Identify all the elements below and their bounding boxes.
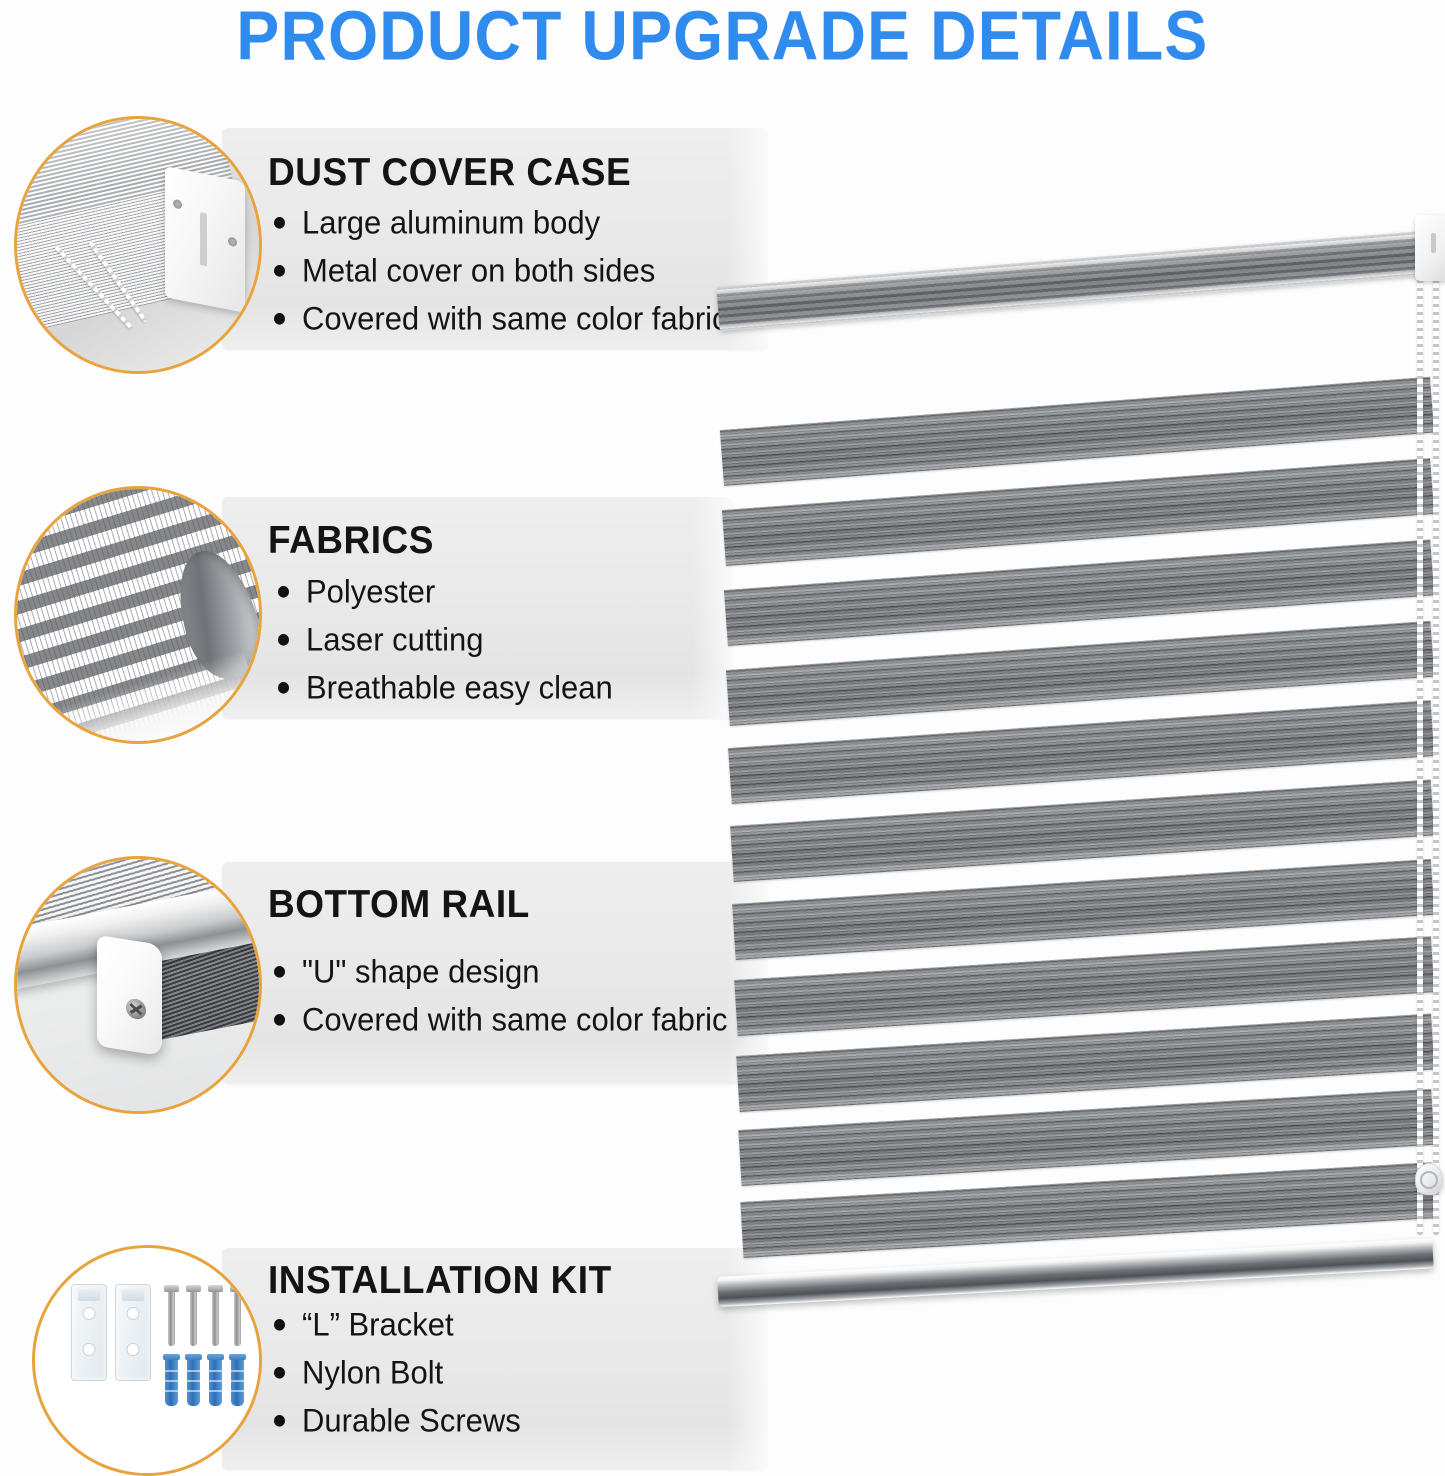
bullet-text: Durable Screws <box>302 1402 521 1439</box>
list-item: "U" shape design <box>268 955 728 988</box>
list-item: Breathable easy clean <box>272 671 613 704</box>
list-item: Large aluminum body <box>268 206 728 239</box>
product-image-zebra-roller-blind <box>700 215 1445 1325</box>
bullet-dot-icon <box>274 1367 285 1379</box>
bullet-dot-icon <box>274 217 285 229</box>
bead-chain <box>1417 275 1423 1235</box>
feature-title-fabrics: FABRICS <box>268 518 434 563</box>
screw-icon <box>126 997 146 1020</box>
bullet-text: Covered with same color fabric <box>302 1001 728 1038</box>
bullet-dot-icon <box>278 586 289 598</box>
head-rail <box>716 230 1435 331</box>
feature-title-bottom-rail: BOTTOM RAIL <box>268 882 530 927</box>
bullet-text: Nylon Bolt <box>302 1354 443 1391</box>
cap-screw-icon <box>228 237 237 248</box>
cap-slot <box>200 213 207 267</box>
bracket-tab <box>122 1289 144 1301</box>
bead-chain <box>1433 275 1439 1235</box>
bracket-hole <box>83 1307 96 1320</box>
bullet-text: "U" shape design <box>302 953 539 990</box>
rolled-blind-photo <box>17 119 259 371</box>
bracket-hole <box>83 1343 96 1356</box>
bullet-text: Breathable easy clean <box>306 669 613 706</box>
zebra-fabric-photo <box>17 489 259 741</box>
bullet-dot-icon <box>274 966 285 978</box>
list-item: Covered with same color fabric <box>268 302 728 335</box>
screw-icon <box>212 1290 219 1346</box>
list-item: Covered with same color fabric <box>268 1003 728 1036</box>
bullet-dot-icon <box>274 1014 285 1026</box>
bullet-dot-icon <box>274 1319 285 1331</box>
bracket-hole <box>127 1307 140 1320</box>
bracket-hole <box>127 1343 140 1356</box>
screw-icon <box>168 1290 175 1346</box>
page-header: PRODUCT UPGRADE DETAILS <box>0 0 1445 72</box>
white-end-cap <box>165 167 245 314</box>
end-cap <box>1415 215 1445 281</box>
wall-anchor-icon <box>165 1354 178 1406</box>
screw-icon <box>234 1290 241 1346</box>
bracket-tab <box>78 1289 100 1301</box>
bullet-text: Covered with same color fabric <box>302 300 728 337</box>
wall-anchor-icon <box>209 1354 222 1406</box>
bullet-dot-icon <box>274 313 285 325</box>
feature-bullets-bottom-rail: "U" shape design Covered with same color… <box>268 955 728 1034</box>
bullet-dot-icon <box>274 1415 285 1427</box>
bullet-text: Large aluminum body <box>302 204 600 241</box>
list-item: Polyester <box>272 575 613 608</box>
bullet-text: Laser cutting <box>306 621 484 658</box>
feature-photo-dust-cover-case <box>14 116 262 374</box>
chain-ring <box>1420 1171 1438 1189</box>
list-item: Durable Screws <box>268 1404 521 1437</box>
white-end-cap <box>97 934 162 1055</box>
installation-hardware-photo <box>35 1248 259 1473</box>
bullet-dot-icon <box>274 265 285 277</box>
chain-joiner <box>1415 1163 1443 1195</box>
feature-photo-fabrics <box>14 486 262 744</box>
feature-title-dust-cover-case: DUST COVER CASE <box>268 150 631 195</box>
list-item: Laser cutting <box>272 623 613 656</box>
bullet-text: Polyester <box>306 573 435 610</box>
l-bracket-icon <box>115 1284 151 1381</box>
l-bracket-icon <box>71 1284 107 1381</box>
feature-photo-bottom-rail <box>14 856 262 1114</box>
feature-bullets-installation-kit: “L” Bracket Nylon Bolt Durable Screws <box>268 1308 521 1435</box>
list-item: “L” Bracket <box>268 1308 521 1341</box>
list-item: Metal cover on both sides <box>268 254 728 287</box>
list-item: Nylon Bolt <box>268 1356 521 1389</box>
bullet-text: “L” Bracket <box>302 1306 454 1343</box>
feature-photo-installation-kit <box>32 1245 262 1476</box>
wall-anchor-icon <box>187 1354 200 1406</box>
page-title: PRODUCT UPGRADE DETAILS <box>236 0 1208 76</box>
wall-anchor-icon <box>231 1354 244 1406</box>
bullet-dot-icon <box>278 682 289 694</box>
cap-screw-icon <box>173 200 182 211</box>
screw-icon <box>190 1290 197 1346</box>
end-cap-pin <box>1431 233 1436 253</box>
bullet-dot-icon <box>278 634 289 646</box>
feature-title-installation-kit: INSTALLATION KIT <box>268 1258 612 1303</box>
feature-bullets-dust-cover-case: Large aluminum body Metal cover on both … <box>268 206 728 333</box>
feature-bullets-fabrics: Polyester Laser cutting Breathable easy … <box>272 575 613 702</box>
bottom-rail-photo <box>17 859 259 1111</box>
bullet-text: Metal cover on both sides <box>302 252 655 289</box>
